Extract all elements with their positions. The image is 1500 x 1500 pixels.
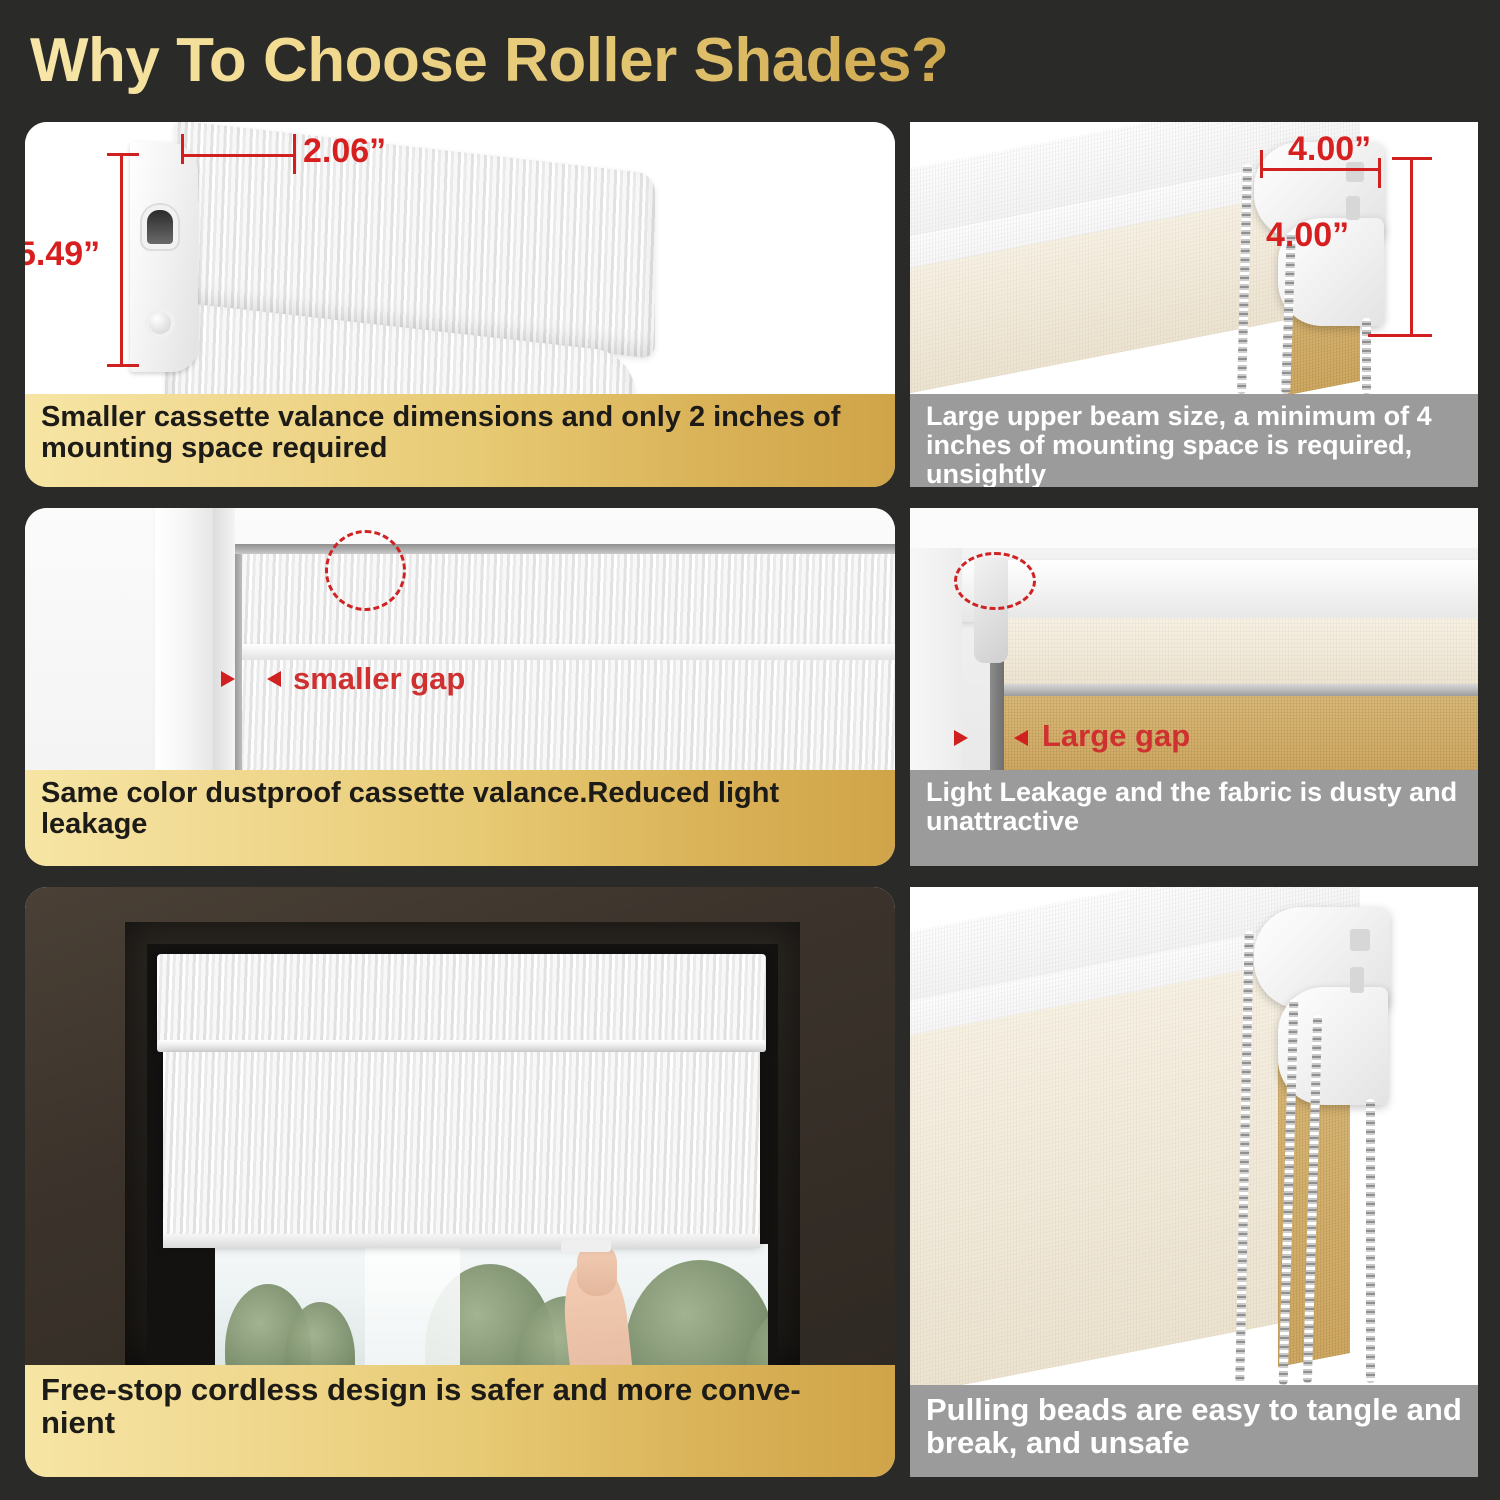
window-reveal: [125, 922, 800, 1365]
bracket-slot-icon: [147, 210, 173, 244]
panel-1-caption: Smaller cassette valance dimensions and …: [25, 394, 895, 487]
gap-arrow-left: [221, 671, 235, 687]
upper-rail: [958, 560, 1478, 622]
panel-3-caption: Same color dustproof cassette valance.Re…: [25, 770, 895, 866]
pull-tab: [561, 1240, 611, 1252]
height-dimension-label: 5.49”: [25, 235, 100, 274]
panel-2-caption: Large upper beam size, a minimum of 4 in…: [910, 394, 1478, 487]
height-dimension-tick-bottom: [107, 364, 139, 367]
end-bracket: [130, 142, 198, 372]
beam-width-label: 4.00”: [1288, 130, 1371, 169]
panel-4-caption: Light Leakage and the fabric is dusty an…: [910, 770, 1478, 866]
beam-height-tick-top: [1392, 157, 1432, 160]
bracket-screw-icon: [149, 312, 171, 334]
highlight-circle: [325, 530, 406, 611]
cassette-valance: [157, 954, 766, 1046]
panel-5-photo: [25, 887, 895, 1365]
panel-cassette-dimensions: 2.06” 5.49” Smaller cassette valance dim…: [25, 122, 895, 487]
side-gap: [235, 554, 242, 770]
height-dimension-tick-top: [107, 153, 139, 156]
valance-lip: [157, 1040, 766, 1052]
metal-bar: [998, 684, 1478, 696]
bracket-slot-icon: [1350, 967, 1364, 993]
smaller-gap-label: smaller gap: [293, 661, 465, 697]
window-glass: [215, 1244, 768, 1365]
page-title: Why To Choose Roller Shades?: [30, 22, 1130, 100]
panel-cordless-design: Free-stop cordless design is safer and m…: [25, 887, 895, 1477]
top-wall: [910, 508, 1478, 548]
beam-height-dimension-line: [1410, 158, 1413, 336]
beam-height-label: 4.00”: [1266, 216, 1349, 255]
panel-2-photo: 4.00” 4.00”: [910, 122, 1478, 394]
window-frame: [155, 508, 213, 770]
shade-fabric: [163, 1052, 760, 1242]
fabric-band-cream: [1000, 618, 1478, 688]
panel-1-photo: 2.06” 5.49”: [25, 122, 895, 394]
height-dimension-line: [120, 154, 123, 366]
panel-light-leakage: Large gap Light Leakage and the fabric i…: [910, 508, 1478, 866]
gap-arrow-left: [954, 730, 968, 746]
infographic-page: Why To Choose Roller Shades? 2.06” 5.49”…: [0, 0, 1500, 1500]
width-dimension-tick-left: [181, 134, 184, 164]
beam-width-tick-right: [1378, 158, 1381, 188]
width-dimension-tick-right: [293, 134, 296, 174]
beam-width-tick-left: [1260, 150, 1263, 178]
panel-6-photo: [910, 887, 1478, 1385]
gap-arrow-right: [1014, 730, 1028, 746]
bead-chain-3: [1362, 318, 1371, 394]
gap-arrow-right: [267, 671, 281, 687]
width-dimension-label: 2.06”: [303, 132, 386, 171]
panel-large-upper-beam: 4.00” 4.00” Large upper beam size, a min…: [910, 122, 1478, 487]
valance-lip: [237, 644, 895, 660]
panel-pulling-beads: Pulling beads are easy to tangle and bre…: [910, 887, 1478, 1477]
highlight-circle: [954, 552, 1036, 610]
sky-highlight: [365, 1244, 460, 1365]
panel-3-photo: smaller gap: [25, 508, 895, 770]
large-gap-label: Large gap: [1042, 718, 1190, 754]
bracket-keyhole-icon: [1350, 929, 1370, 951]
beam-height-tick-bottom: [1368, 334, 1432, 337]
width-dimension-line: [183, 154, 295, 157]
bottom-rail: [163, 1234, 760, 1248]
panel-5-caption: Free-stop cordless design is safer and m…: [25, 1365, 895, 1477]
panel-6-caption: Pulling beads are easy to tangle and bre…: [910, 1385, 1478, 1477]
panel-4-photo: Large gap: [910, 508, 1478, 770]
window-jamb: [213, 508, 235, 770]
panel-dustproof-cassette: smaller gap Same color dustproof cassett…: [25, 508, 895, 866]
bead-chain-4: [1366, 1099, 1375, 1383]
window-opening: [147, 944, 778, 1365]
